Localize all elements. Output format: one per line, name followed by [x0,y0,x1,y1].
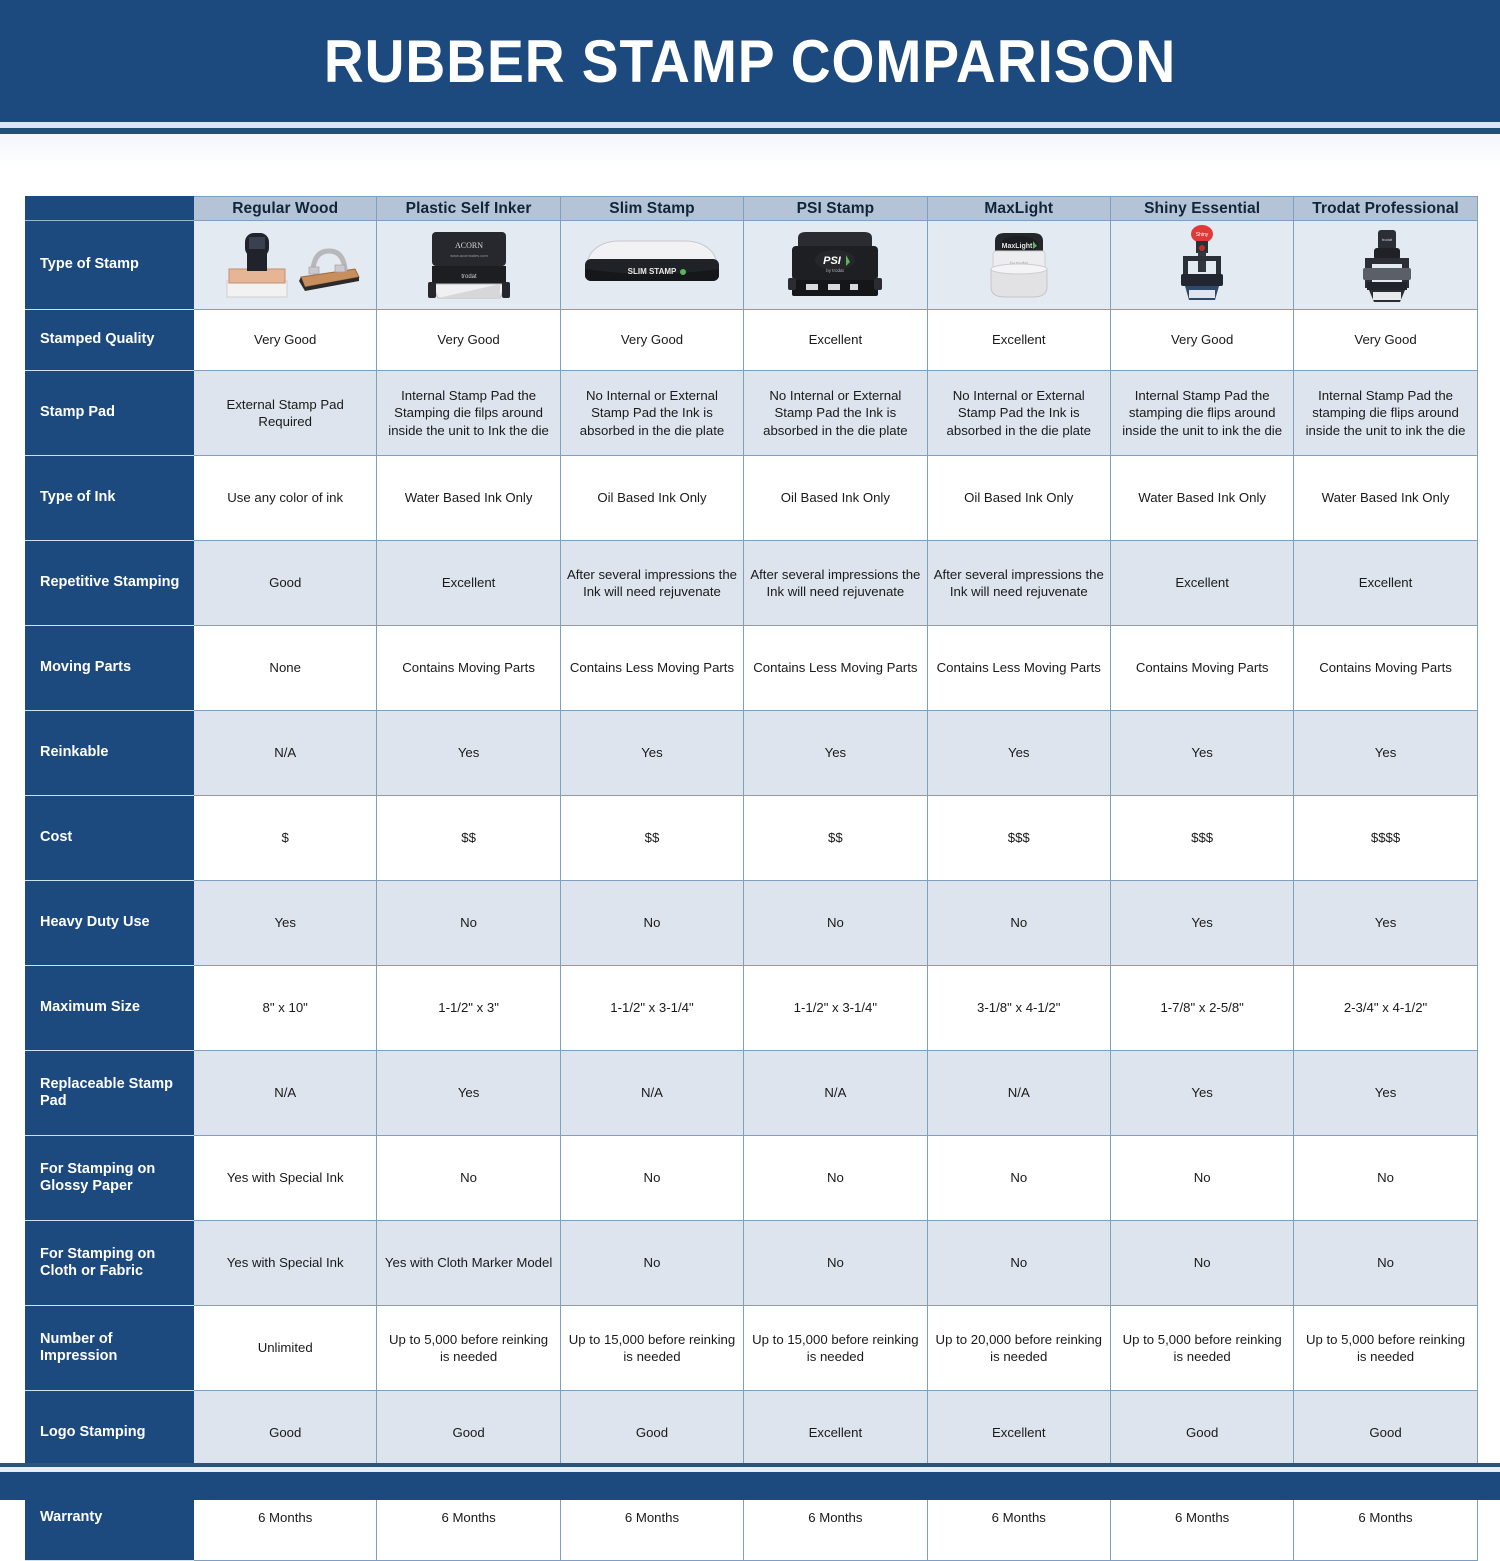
cell-value: No [1294,1136,1477,1221]
table-row: For Stamping on Cloth or Fabric Yes with… [26,1221,1478,1306]
rubber-stamp-comparison-table: Regular Wood Plastic Self Inker Slim Sta… [25,196,1478,1561]
cell-value: N/A [744,1051,927,1136]
maxlight-stamp-icon: MaxLight by trodat [928,221,1110,309]
cell-value: Yes [1110,881,1293,966]
cell-value: Yes [1110,711,1293,796]
comparison-table-container: Regular Wood Plastic Self Inker Slim Sta… [25,196,1477,1561]
cell-value: Oil Based Ink Only [744,456,927,541]
table-row: Heavy Duty Use Yes No No No No Yes Yes [26,881,1478,966]
table-row: Stamp Pad External Stamp Pad Required In… [26,371,1478,456]
svg-text:ACORN: ACORN [455,241,483,250]
row-label-cost: Cost [26,796,194,881]
cell-value: No [1110,1136,1293,1221]
cell-value: 1-7/8" x 2-5/8" [1110,966,1293,1051]
cell-value: Contains Less Moving Parts [744,626,927,711]
cell-value: Internal Stamp Pad the Stamping die filp… [377,371,560,456]
table-body: Type of Stamp [26,221,1478,1561]
cell-type-of-stamp-plastic-self-inker: ACORN www.acornsales.com trodat [377,221,560,310]
svg-text:trodat: trodat [461,274,477,280]
row-label-type-of-ink: Type of Ink [26,456,194,541]
cell-value: No [927,1136,1110,1221]
cell-value: Water Based Ink Only [1110,456,1293,541]
table-row: Reinkable N/A Yes Yes Yes Yes Yes Yes [26,711,1478,796]
row-label-for-stamping-on-glossy-paper: For Stamping on Glossy Paper [26,1136,194,1221]
cell-value: Water Based Ink Only [1294,456,1477,541]
column-header-plastic-self-inker: Plastic Self Inker [377,197,560,221]
plastic-self-inker-stamp-icon: ACORN www.acornsales.com trodat [377,221,559,309]
cell-type-of-stamp-regular-wood [194,221,377,310]
cell-value: Up to 15,000 before reinking is needed [560,1306,743,1391]
cell-value: Oil Based Ink Only [927,456,1110,541]
row-label-replaceable-stamp-pad: Replaceable Stamp Pad [26,1051,194,1136]
cell-value: Up to 5,000 before reinking is needed [1294,1306,1477,1391]
table-corner-cell [26,197,194,221]
column-header-regular-wood: Regular Wood [194,197,377,221]
cell-value: External Stamp Pad Required [194,371,377,456]
cell-value: $$$ [927,796,1110,881]
cell-type-of-stamp-trodat-professional: trodat [1294,221,1477,310]
table-row: Type of Stamp [26,221,1478,310]
cell-value: No [560,1136,743,1221]
cell-value: No [560,1221,743,1306]
cell-value: Contains Moving Parts [1294,626,1477,711]
page-footer-banner [0,1472,1500,1500]
cell-value: N/A [194,1051,377,1136]
cell-value: $$$ [1110,796,1293,881]
cell-value: 8" x 10" [194,966,377,1051]
svg-text:www.acornsales.com: www.acornsales.com [450,253,488,258]
cell-value: Yes with Special Ink [194,1136,377,1221]
cell-value: Yes [1294,711,1477,796]
cell-type-of-stamp-maxlight: MaxLight by trodat [927,221,1110,310]
cell-value: Very Good [1294,310,1477,371]
cell-value: No [744,881,927,966]
table-row: Cost $ $$ $$ $$ $$$ $$$ $$$$ [26,796,1478,881]
cell-value: Yes with Cloth Marker Model [377,1221,560,1306]
column-header-shiny-essential: Shiny Essential [1110,197,1293,221]
cell-value: Internal Stamp Pad the stamping die flip… [1110,371,1293,456]
cell-value: No Internal or External Stamp Pad the In… [927,371,1110,456]
cell-value: Excellent [927,310,1110,371]
row-label-number-of-impression: Number of Impression [26,1306,194,1391]
cell-value: Contains Moving Parts [377,626,560,711]
cell-value: $$ [744,796,927,881]
cell-value: Unlimited [194,1306,377,1391]
row-label-reinkable: Reinkable [26,711,194,796]
row-label-maximum-size: Maximum Size [26,966,194,1051]
cell-value: Yes [927,711,1110,796]
table-row: Number of Impression Unlimited Up to 5,0… [26,1306,1478,1391]
cell-value: Up to 5,000 before reinking is needed [1110,1306,1293,1391]
cell-type-of-stamp-psi-stamp: PSI by trodat [744,221,927,310]
cell-value: $$ [560,796,743,881]
cell-value: No [1110,1221,1293,1306]
cell-value: After several impressions the Ink will n… [927,541,1110,626]
psi-stamp-icon: PSI by trodat [744,221,926,309]
cell-value: Up to 5,000 before reinking is needed [377,1306,560,1391]
cell-value: Very Good [194,310,377,371]
cell-value: No [377,881,560,966]
cell-value: Yes [1110,1051,1293,1136]
page-title: RUBBER STAMP COMPARISON [60,0,1440,122]
header-gradient-fade [0,134,1500,168]
shiny-essential-stamp-icon: Shiny [1111,221,1293,309]
cell-value: Excellent [1294,541,1477,626]
table-row: Replaceable Stamp Pad N/A Yes N/A N/A N/… [26,1051,1478,1136]
column-header-maxlight: MaxLight [927,197,1110,221]
cell-value: Up to 20,000 before reinking is needed [927,1306,1110,1391]
row-label-moving-parts: Moving Parts [26,626,194,711]
cell-value: Very Good [560,310,743,371]
row-label-heavy-duty-use: Heavy Duty Use [26,881,194,966]
column-header-slim-stamp: Slim Stamp [560,197,743,221]
cell-value: Excellent [377,541,560,626]
svg-text:PSI: PSI [823,255,842,267]
cell-value: No [560,881,743,966]
row-label-type-of-stamp: Type of Stamp [26,221,194,310]
cell-value: $ [194,796,377,881]
slim-stamp-icon: SLIM STAMP [561,221,743,309]
cell-value: Yes with Special Ink [194,1221,377,1306]
cell-value: 1-1/2" x 3" [377,966,560,1051]
table-header-row: Regular Wood Plastic Self Inker Slim Sta… [26,197,1478,221]
cell-value: No [744,1136,927,1221]
cell-value: 1-1/2" x 3-1/4" [744,966,927,1051]
cell-value: No [927,881,1110,966]
cell-value: N/A [927,1051,1110,1136]
cell-value: Contains Less Moving Parts [927,626,1110,711]
cell-value: 3-1/8" x 4-1/2" [927,966,1110,1051]
row-label-for-stamping-on-cloth-or-fabric: For Stamping on Cloth or Fabric [26,1221,194,1306]
cell-value: Use any color of ink [194,456,377,541]
svg-text:Shiny: Shiny [1196,232,1209,238]
cell-value: No [927,1221,1110,1306]
row-label-stamp-pad: Stamp Pad [26,371,194,456]
cell-value: $$ [377,796,560,881]
svg-text:SLIM STAMP: SLIM STAMP [628,267,677,276]
cell-value: 1-1/2" x 3-1/4" [560,966,743,1051]
cell-value: After several impressions the Ink will n… [744,541,927,626]
svg-text:MaxLight: MaxLight [1001,243,1032,250]
cell-value: After several impressions the Ink will n… [560,541,743,626]
cell-value: Yes [194,881,377,966]
table-row: Type of Ink Use any color of ink Water B… [26,456,1478,541]
wood-handle-stamp-icon [194,221,376,309]
cell-value: Very Good [1110,310,1293,371]
row-label-repetitive-stamping: Repetitive Stamping [26,541,194,626]
cell-value: Up to 15,000 before reinking is needed [744,1306,927,1391]
trodat-professional-stamp-icon: trodat [1294,221,1476,309]
cell-value: Yes [744,711,927,796]
table-row: Maximum Size 8" x 10" 1-1/2" x 3" 1-1/2"… [26,966,1478,1051]
cell-value: Very Good [377,310,560,371]
cell-value: No Internal or External Stamp Pad the In… [744,371,927,456]
cell-value: Yes [1294,1051,1477,1136]
cell-value: No [377,1136,560,1221]
table-row: Repetitive Stamping Good Excellent After… [26,541,1478,626]
cell-value: Oil Based Ink Only [560,456,743,541]
cell-value: Excellent [744,310,927,371]
cell-value: 2-3/4" x 4-1/2" [1294,966,1477,1051]
column-header-psi-stamp: PSI Stamp [744,197,927,221]
cell-value: No [1294,1221,1477,1306]
cell-value: Yes [560,711,743,796]
cell-value: Contains Less Moving Parts [560,626,743,711]
cell-value: None [194,626,377,711]
cell-value: Contains Moving Parts [1110,626,1293,711]
svg-text:trodat: trodat [1381,237,1392,242]
row-label-stamped-quality: Stamped Quality [26,310,194,371]
cell-value: N/A [560,1051,743,1136]
column-header-trodat-professional: Trodat Professional [1294,197,1477,221]
cell-value: Internal Stamp Pad the stamping die flip… [1294,371,1477,456]
table-row: Moving Parts None Contains Moving Parts … [26,626,1478,711]
cell-value: Yes [377,1051,560,1136]
cell-value: $$$$ [1294,796,1477,881]
table-row: For Stamping on Glossy Paper Yes with Sp… [26,1136,1478,1221]
cell-value: Good [194,541,377,626]
cell-type-of-stamp-slim-stamp: SLIM STAMP [560,221,743,310]
cell-value: Water Based Ink Only [377,456,560,541]
cell-type-of-stamp-shiny-essential: Shiny [1110,221,1293,310]
cell-value: Excellent [1110,541,1293,626]
cell-value: N/A [194,711,377,796]
cell-value: No [744,1221,927,1306]
cell-value: No Internal or External Stamp Pad the In… [560,371,743,456]
svg-text:by trodat: by trodat [827,268,845,273]
cell-value: Yes [1294,881,1477,966]
table-row: Stamped Quality Very Good Very Good Very… [26,310,1478,371]
cell-value: Yes [377,711,560,796]
